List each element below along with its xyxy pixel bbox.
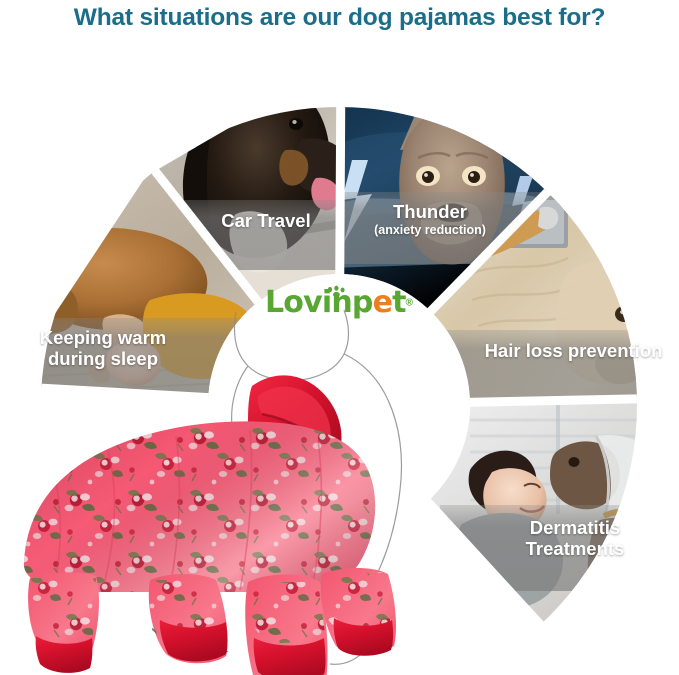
- product-image: [0, 300, 460, 675]
- infographic-canvas: What situations are our dog pajamas best…: [0, 0, 679, 675]
